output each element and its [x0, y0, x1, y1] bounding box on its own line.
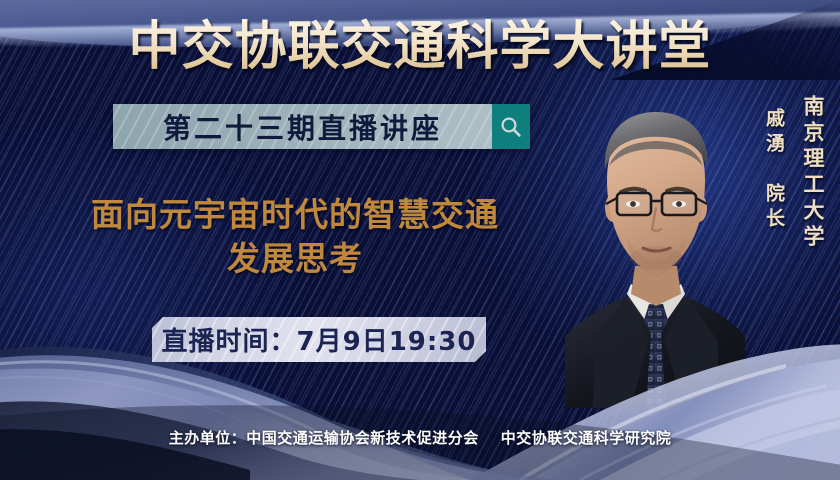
broadcast-time-badge: 直播时间：7月9日19:30 [152, 317, 486, 362]
broadcast-time-label: 直播时间：7月9日19:30 [162, 321, 477, 358]
episode-label: 第二十三期直播讲座 [163, 107, 442, 147]
speaker-name-role: 戚湧 院长 [761, 108, 788, 233]
organizer-prefix: 主办单位： [169, 429, 247, 447]
episode-banner-body: 第二十三期直播讲座 [113, 104, 492, 149]
lecture-headline-line2: 发展思考 [25, 237, 565, 281]
speaker-organization: 南京理工大学 [798, 95, 828, 251]
organizer-footer: 主办单位：中国交通运输协会新技术促进分会中交协联交通科学研究院 [0, 427, 840, 448]
search-icon[interactable] [492, 104, 530, 149]
speaker-portrait [565, 88, 745, 408]
page-title: 中交协联交通科学大讲堂 [0, 17, 840, 77]
lecture-headline: 面向元宇宙时代的智慧交通 发展思考 [25, 193, 565, 281]
organizer-org1: 中国交通运输协会新技术促进分会 [246, 429, 479, 447]
live-lecture-poster: 中交协联交通科学大讲堂 第二十三期直播讲座 面向元宇宙时代的智慧交通 发展思考 … [0, 0, 840, 480]
organizer-org2: 中交协联交通科学研究院 [501, 429, 672, 447]
lecture-headline-line1: 面向元宇宙时代的智慧交通 [25, 193, 565, 237]
episode-banner: 第二十三期直播讲座 [113, 104, 530, 149]
